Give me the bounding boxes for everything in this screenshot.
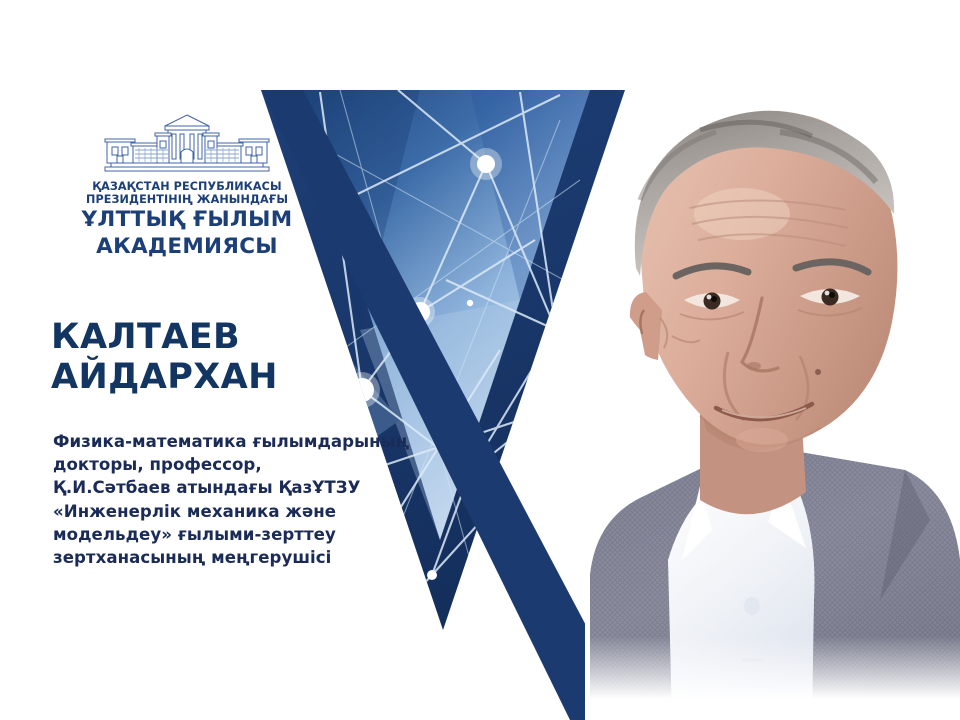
person-given-name: АЙДАРХАН <box>51 358 278 398</box>
logo-line-1: ҚАЗАҚСТАН РЕСПУБЛИКАСЫ <box>72 180 302 193</box>
description-line-1: Физика-математика ғылымдарының <box>53 430 483 453</box>
logo-line-2: ПРЕЗИДЕНТІНІҢ ЖАНЫНДАҒЫ <box>72 193 302 206</box>
navy-diagonal-stripe <box>261 90 636 720</box>
announcement-card: ҚАЗАҚСТАН РЕСПУБЛИКАСЫ ПРЕЗИДЕНТІНІҢ ЖАН… <box>0 0 960 720</box>
person-description: Физика-математика ғылымдарының докторы, … <box>53 430 483 569</box>
logo-line-4: АКАДЕМИЯСЫ <box>72 234 302 259</box>
logo-line-3: ҰЛТТЫҚ ҒЫЛЫМ <box>72 207 302 232</box>
academy-logo: ҚАЗАҚСТАН РЕСПУБЛИКАСЫ ПРЕЗИДЕНТІНІҢ ЖАН… <box>72 112 302 259</box>
description-line-5: модельдеу» ғылыми-зерттеу <box>53 523 483 546</box>
description-line-3: Қ.И.Сәтбаев атындағы ҚазҰТЗУ <box>53 476 483 499</box>
description-line-6: зертханасының меңгерушісі <box>53 546 483 569</box>
person-name: КАЛТАЕВ АЙДАРХАН <box>51 318 278 397</box>
academy-building-emblem <box>99 112 275 174</box>
description-line-4: «Инженерлік механика және <box>53 500 483 523</box>
person-surname: КАЛТАЕВ <box>51 318 278 358</box>
description-line-2: докторы, профессор, <box>53 453 483 476</box>
portrait-photo <box>560 60 960 720</box>
